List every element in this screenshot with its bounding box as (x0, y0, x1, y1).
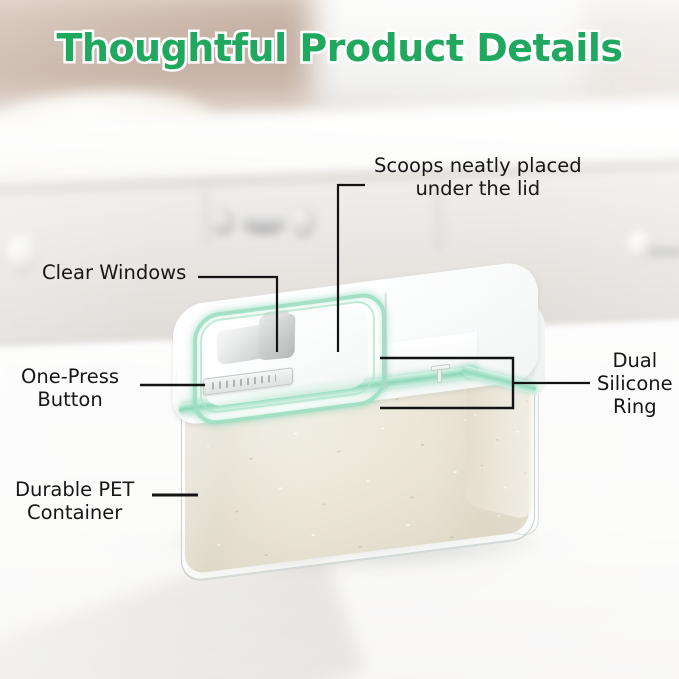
callout-label-one-press-button: One-Press Button (21, 366, 119, 412)
rice-storage-container (163, 281, 553, 576)
button-ridge-texture (212, 374, 276, 389)
callout-label-durable-pet-container: Durable PET Container (15, 479, 134, 525)
infographic-canvas: Thoughtful Product Details Scoops neatly… (0, 0, 679, 679)
page-title: Thoughtful Product Details (0, 26, 679, 70)
callout-label-dual-silicone-ring: Dual Silicone Ring (597, 350, 673, 418)
lid-hinge-clip (431, 364, 449, 382)
callout-label-clear-windows: Clear Windows (42, 262, 186, 285)
callout-label-scoops: Scoops neatly placed under the lid (374, 155, 582, 201)
